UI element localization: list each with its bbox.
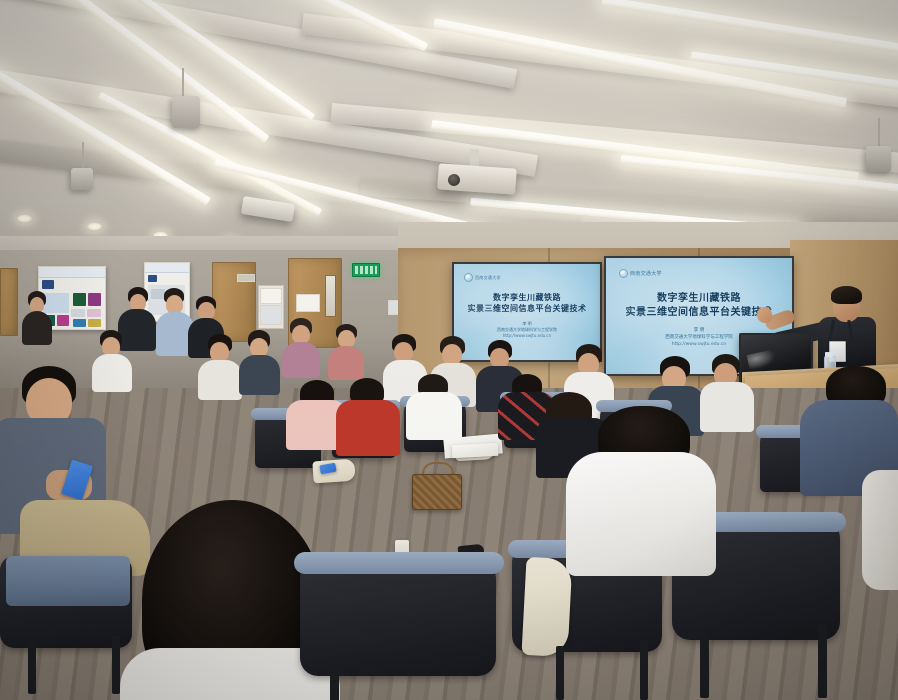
poster-figure xyxy=(57,315,69,326)
poster-figure xyxy=(71,309,85,317)
checkered-handbag[interactable] xyxy=(412,474,462,510)
torso xyxy=(118,309,156,351)
ceiling-light-tube xyxy=(601,0,898,57)
room-number-plate xyxy=(237,274,255,282)
notice-photo-sheet xyxy=(260,305,282,325)
head xyxy=(210,342,229,362)
door-far-left[interactable] xyxy=(0,268,18,336)
recessed-downlight xyxy=(16,214,33,223)
exit-sign xyxy=(352,263,380,277)
poster-figure xyxy=(148,275,157,282)
poster-header xyxy=(145,263,189,273)
chair-leg xyxy=(818,624,827,698)
speaker-mount-rod xyxy=(878,118,880,148)
torso xyxy=(239,355,280,395)
torso xyxy=(198,360,242,400)
chair-leg xyxy=(330,664,339,700)
torso xyxy=(282,342,320,378)
torso xyxy=(92,354,132,392)
chair-writing-tablet[interactable] xyxy=(521,557,572,657)
ceiling-speaker xyxy=(172,96,200,128)
head xyxy=(490,348,509,368)
exit-sign-glyph xyxy=(355,266,377,274)
ceiling-speaker xyxy=(866,146,891,172)
torso xyxy=(406,392,462,440)
chair-leg xyxy=(700,630,709,698)
torso xyxy=(328,346,364,380)
torso xyxy=(700,382,754,432)
poster-figure xyxy=(88,293,101,306)
chair-leg xyxy=(28,640,36,694)
torso xyxy=(336,400,400,456)
poster-figure xyxy=(73,319,86,327)
chair-seat-cushion xyxy=(6,556,130,606)
poster-figure xyxy=(88,319,101,327)
notice-sheet xyxy=(296,294,320,312)
lecture-hall-photo: 西南交通大学 数字孪生川藏铁路 实景三维空间信息平台关键技术 李 明 西南交通大… xyxy=(0,0,898,700)
chair-leg xyxy=(112,636,120,694)
ceiling-speaker xyxy=(71,168,93,190)
paper-handouts[interactable] xyxy=(452,443,499,458)
torso-white-shirt xyxy=(566,452,716,576)
speaker-hair xyxy=(831,286,862,304)
recessed-downlight xyxy=(86,222,103,231)
speaker-mount-rod xyxy=(82,142,84,170)
poster-figure xyxy=(42,280,54,289)
chair-back-trim xyxy=(294,552,504,574)
chair-leg xyxy=(556,646,564,700)
door-vision-panel xyxy=(325,275,336,317)
poster-figure xyxy=(73,293,86,306)
attendee-sleeve xyxy=(862,470,898,590)
poster-figure xyxy=(151,289,165,299)
head xyxy=(394,342,413,362)
poster-figure xyxy=(43,293,69,313)
water-bottle-cap xyxy=(825,352,833,357)
poster-header xyxy=(39,267,105,278)
chair-leg xyxy=(640,640,648,700)
head xyxy=(442,344,462,365)
torso xyxy=(22,311,52,345)
poster-figure xyxy=(87,309,101,317)
notice-sheet xyxy=(260,288,282,304)
